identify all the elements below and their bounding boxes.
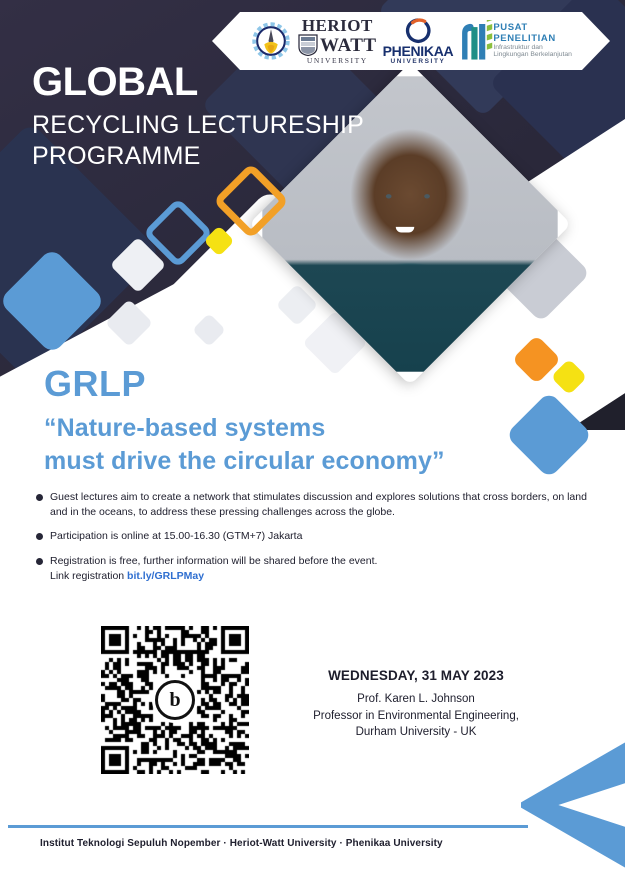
phenikaa-sub: UNIVERSITY: [390, 59, 445, 66]
speaker-name: Prof. Karen L. Johnson: [296, 691, 536, 708]
photo-detail: [425, 194, 431, 198]
bullet-text: Participation is online at 15.00-16.30 (…: [50, 529, 302, 544]
heriot-watt-line1: HERIOT: [302, 17, 373, 34]
list-item: Guest lectures aim to create a network t…: [36, 490, 602, 520]
speaker-affiliation: Durham University - UK: [296, 724, 536, 741]
page-subtitle: RECYCLING LECTURESHIP PROGRAMME: [32, 110, 364, 173]
bullet-text-group: Registration is free, further informatio…: [50, 554, 377, 584]
pusat-penelitian-building-icon: [459, 20, 493, 62]
phenikaa-name: PHENIKAA: [383, 44, 454, 59]
registration-link[interactable]: bit.ly/GRLPMay: [127, 570, 204, 582]
registration-link-line: Link registration bit.ly/GRLPMay: [50, 569, 377, 584]
bullet-text: Guest lectures aim to create a network t…: [50, 490, 602, 520]
poster-root: HERIOT WATT UNIVERSITY PH: [0, 0, 625, 871]
lecture-quote: “Nature-based systems must drive the cir…: [44, 412, 445, 478]
phenikaa-ring-icon: [403, 16, 433, 44]
bitly-glyph: b: [155, 680, 195, 720]
speaker-role: Professor in Environmental Engineering,: [296, 708, 536, 725]
page-subtitle-line1: RECYCLING LECTURESHIP: [32, 110, 364, 141]
list-item: Registration is free, further informatio…: [36, 554, 602, 584]
photo-detail: [395, 227, 413, 233]
heriot-watt-logo: HERIOT WATT UNIVERSITY: [298, 17, 377, 65]
bullet-list: Guest lectures aim to create a network t…: [36, 490, 602, 593]
event-date: WEDNESDAY, 31 MAY 2023: [296, 668, 536, 683]
list-item: Participation is online at 15.00-16.30 (…: [36, 529, 602, 544]
page-subtitle-line2: PROGRAMME: [32, 141, 364, 172]
bullet-dot-icon: [36, 533, 43, 540]
footer-partners: Institut Teknologi Sepuluh Nopember · He…: [40, 838, 443, 849]
its-gear-icon: [250, 20, 292, 62]
bullet-dot-icon: [36, 558, 43, 565]
event-details: WEDNESDAY, 31 MAY 2023 Prof. Karen L. Jo…: [296, 668, 536, 741]
pusat-penelitian-line4: Lingkungan Berkelanjutan: [493, 51, 572, 58]
registration-link-prefix: Link registration: [50, 570, 127, 582]
lecture-quote-line2: must drive the circular economy”: [44, 445, 445, 478]
footer-divider: [8, 825, 528, 828]
lecture-quote-line1: “Nature-based systems: [44, 412, 445, 445]
bullet-dot-icon: [36, 494, 43, 501]
grlp-acronym: GRLP: [44, 366, 146, 402]
bullet-text: Registration is free, further informatio…: [50, 554, 377, 569]
page-title-global: GLOBAL: [32, 62, 198, 102]
speaker-block: Prof. Karen L. Johnson Professor in Envi…: [296, 691, 536, 741]
heriot-watt-crest-icon: [298, 34, 318, 56]
heriot-watt-line3: UNIVERSITY: [307, 57, 368, 65]
pusat-penelitian-logo: PUSAT PENELITIAN Infrastruktur dan Lingk…: [459, 20, 572, 62]
phenikaa-logo: PHENIKAA UNIVERSITY: [383, 16, 454, 66]
photo-detail: [386, 194, 392, 198]
qr-code[interactable]: b: [101, 626, 249, 774]
heriot-watt-line2: WATT: [320, 36, 377, 55]
bitly-logo: b: [152, 677, 198, 723]
partner-logo-banner: HERIOT WATT UNIVERSITY PH: [212, 12, 610, 70]
pusat-penelitian-line3: Infrastruktur dan: [493, 44, 572, 51]
its-logo: [250, 20, 292, 62]
pusat-penelitian-line2: PENELITIAN: [493, 34, 572, 44]
